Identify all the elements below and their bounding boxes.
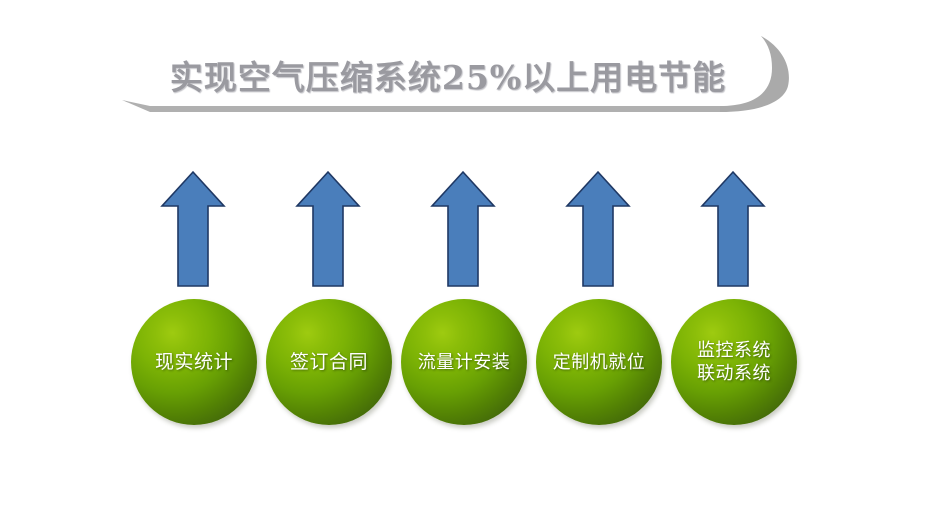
process-node-label: 监控系统 联动系统 <box>697 339 771 385</box>
process-node-label: 现实统计 <box>155 351 233 374</box>
slide-canvas: 实现空气压缩系统25%以上用电节能 <box>0 0 945 529</box>
process-node-2[interactable]: 签订合同 <box>266 299 392 425</box>
process-nodes-row: 现实统计 签订合同 流量计安装 定制机就位 监控系统 联动系统 <box>0 299 945 431</box>
arrows-row <box>0 168 945 293</box>
up-arrow-icon <box>698 168 768 290</box>
process-node-4[interactable]: 定制机就位 <box>536 299 662 425</box>
process-node-label: 流量计安装 <box>418 351 511 374</box>
up-arrow-icon <box>428 168 498 290</box>
process-node-5[interactable]: 监控系统 联动系统 <box>671 299 797 425</box>
process-node-1[interactable]: 现实统计 <box>131 299 257 425</box>
process-node-3[interactable]: 流量计安装 <box>401 299 527 425</box>
process-node-label: 签订合同 <box>290 351 368 374</box>
up-arrow-1 <box>158 168 228 290</box>
up-arrow-icon <box>293 168 363 290</box>
up-arrow-5 <box>698 168 768 290</box>
up-arrow-icon <box>158 168 228 290</box>
up-arrow-icon <box>563 168 633 290</box>
title-banner: 实现空气压缩系统25%以上用电节能 <box>120 34 800 144</box>
process-node-label: 定制机就位 <box>553 351 646 374</box>
page-title: 实现空气压缩系统25%以上用电节能 <box>148 44 748 106</box>
up-arrow-3 <box>428 168 498 290</box>
up-arrow-2 <box>293 168 363 290</box>
up-arrow-4 <box>563 168 633 290</box>
